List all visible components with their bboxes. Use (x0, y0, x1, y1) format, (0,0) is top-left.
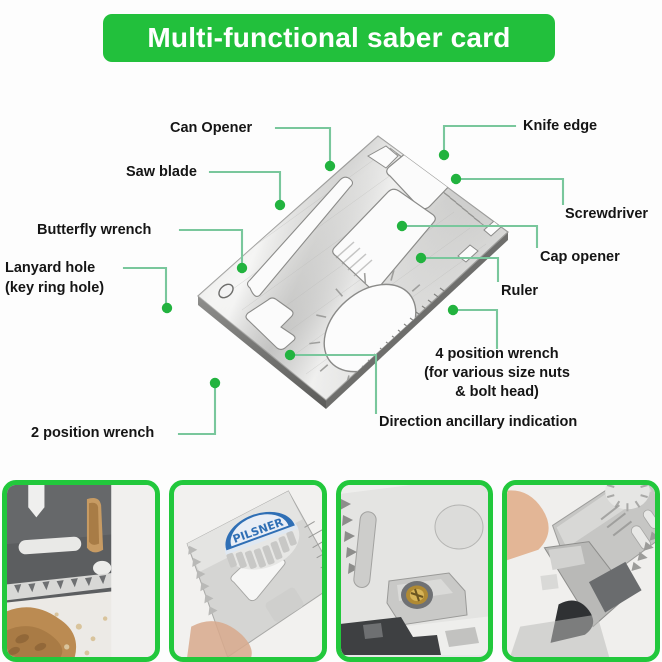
product-photo-strip: PILSNER (0, 480, 662, 662)
photo-cap-opener-image: PILSNER (174, 485, 322, 657)
callout-label-lanyard-hole: Lanyard hole (5, 259, 95, 278)
callout-label-four-position-wrench-sub2: & bolt head) (407, 383, 587, 402)
callout-label-direction-indication: Direction ancillary indication (379, 413, 577, 432)
callout-label-four-position-wrench-sub1: (for various size nuts (407, 364, 587, 383)
callout-label-knife-edge: Knife edge (523, 117, 597, 136)
photo-wrench-image (341, 485, 489, 657)
callout-label-can-opener: Can Opener (170, 119, 252, 138)
photo-panel-cap-opener[interactable]: PILSNER (169, 480, 327, 662)
callout-label-ruler: Ruler (501, 282, 538, 301)
callout-label-cap-opener: Cap opener (540, 248, 620, 267)
page-title: Multi-functional saber card (147, 22, 510, 54)
photo-panel-saw[interactable] (2, 480, 160, 662)
callout-label-screwdriver: Screwdriver (565, 205, 648, 224)
callout-label-lanyard-hole-sub: (key ring hole) (5, 279, 104, 298)
callout-label-butterfly-wrench: Butterfly wrench (37, 221, 151, 240)
photo-saw-image (7, 485, 155, 657)
page-title-banner: Multi-functional saber card (103, 14, 555, 62)
callout-label-saw-blade: Saw blade (126, 163, 197, 182)
callout-label-four-position-wrench: 4 position wrench (407, 345, 587, 364)
callout-label-two-position-wrench: 2 position wrench (31, 424, 154, 443)
infographic-page: Multi-functional saber card (0, 0, 662, 662)
photo-panel-wrench[interactable] (336, 480, 494, 662)
photo-screwdriver-image (507, 485, 655, 657)
photo-panel-screwdriver[interactable] (502, 480, 660, 662)
